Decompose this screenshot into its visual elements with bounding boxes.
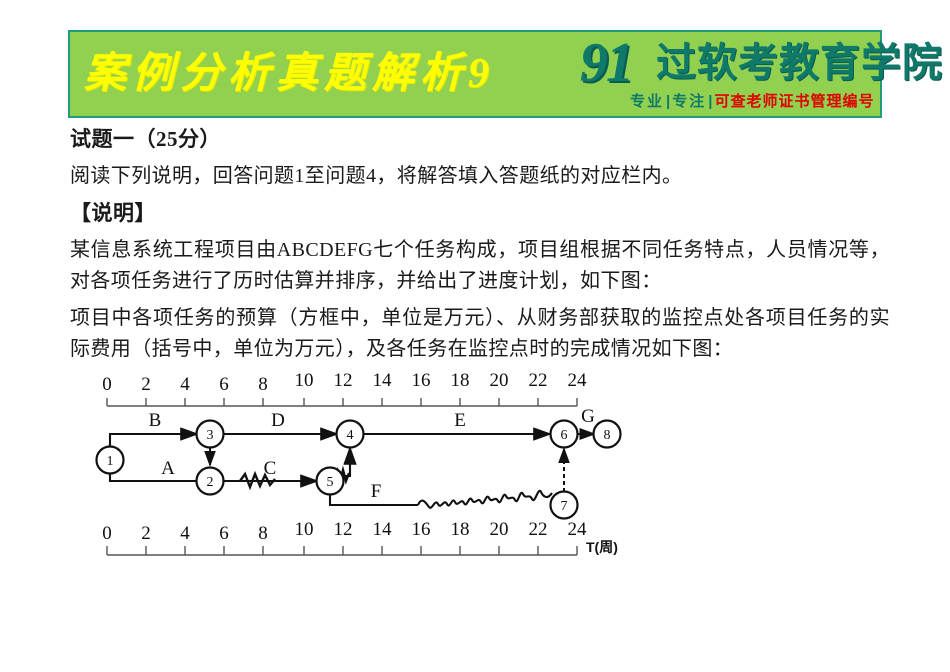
logo-subtitle-part1: 专业: [630, 93, 664, 110]
paragraph-1: 某信息系统工程项目由ABCDEFG七个任务构成，项目组根据不同任务特点，人员情况…: [70, 235, 890, 297]
top-tick-label: 12: [334, 372, 353, 391]
top-tick-label: 0: [102, 374, 112, 395]
node-label: 5: [327, 475, 334, 490]
node-2[interactable]: 2: [197, 468, 224, 495]
bottom-tick-label: 4: [180, 523, 190, 544]
page-title: 案例分析真题解析9: [84, 38, 495, 110]
document-body: 试题一（25分） 阅读下列说明，回答问题1至问题4，将解答填入答题纸的对应栏内。…: [70, 126, 890, 371]
node-4[interactable]: 4: [337, 421, 364, 448]
bottom-tick-label: 0: [102, 523, 112, 544]
node-1[interactable]: 1: [97, 447, 124, 474]
logo-subtitle-part3: 可查老师证书管理编号: [714, 93, 874, 110]
top-tick-label: 8: [258, 374, 268, 395]
top-tick-label: 4: [180, 374, 190, 395]
bottom-tick-label: 14: [373, 519, 393, 540]
logo-subtitle-part2: 专注: [672, 93, 706, 110]
top-tick-label: 14: [373, 372, 393, 391]
activity-label-G: G: [581, 406, 595, 427]
bottom-tick-label: 18: [451, 519, 470, 540]
activity-label-A: A: [161, 458, 175, 479]
top-tick-label: 16: [412, 372, 431, 391]
question-title: 试题一（25分）: [70, 126, 890, 152]
bottom-tick-label: 8: [258, 523, 268, 544]
activity-label-B: B: [149, 410, 162, 431]
node-6[interactable]: 6: [551, 421, 578, 448]
node-label: 6: [561, 428, 568, 443]
node-8[interactable]: 8: [594, 421, 621, 448]
bottom-tick-label: 20: [490, 519, 509, 540]
top-tick-label: 6: [219, 374, 229, 395]
activity-label-D: D: [271, 410, 285, 431]
node-label: 1: [107, 454, 114, 469]
instruction-line: 阅读下列说明，回答问题1至问题4，将解答填入答题纸的对应栏内。: [70, 161, 890, 191]
node-label: 4: [347, 428, 354, 443]
activity-label-F: F: [371, 481, 382, 502]
bottom-tick-label: 24: [568, 519, 588, 540]
bottom-tick-label: 12: [334, 519, 353, 540]
edge-F-slack-squiggle: [418, 491, 552, 508]
network-diagram: 0 2 4 6 8 10 12 14 16 18 20 22 24: [80, 372, 700, 572]
section-title: 【说明】: [70, 200, 890, 226]
paragraph-2: 项目中各项任务的预算（方框中，单位是万元）、从财务部获取的监控点处各项目任务的实…: [70, 303, 890, 365]
activity-label-E: E: [454, 410, 466, 431]
logo-name: 过软考教育学院: [656, 40, 943, 86]
node-5[interactable]: 5: [317, 468, 344, 495]
top-tick-label: 24: [568, 372, 588, 391]
logo-number: 91: [580, 34, 632, 92]
time-unit-label: T(周): [586, 539, 618, 555]
node-label: 2: [207, 475, 214, 490]
top-tick-label: 22: [529, 372, 548, 391]
bottom-tick-label: 6: [219, 523, 229, 544]
network-nodes: 1 3 2 4 5 6 8: [97, 421, 621, 519]
brand-logo: 91 过软考教育学院 专业|专注|可查老师证书管理编号: [574, 34, 874, 118]
bottom-tick-label: 2: [141, 523, 151, 544]
node-label: 3: [207, 428, 214, 443]
top-tick-label: 10: [295, 372, 314, 391]
node-label: 7: [561, 499, 568, 514]
logo-subtitle: 专业|专注|可查老师证书管理编号: [630, 92, 874, 112]
top-tick-label: 2: [141, 374, 151, 395]
node-3[interactable]: 3: [197, 421, 224, 448]
top-tick-label: 20: [490, 372, 509, 391]
top-tick-label: 18: [451, 372, 470, 391]
network-diagram-svg: 0 2 4 6 8 10 12 14 16 18 20 22 24: [80, 372, 700, 572]
top-axis-ticks: [107, 398, 577, 406]
node-label: 8: [604, 428, 611, 443]
bottom-tick-label: 10: [295, 519, 314, 540]
top-axis: 0 2 4 6 8 10 12 14 16 18 20 22 24: [102, 372, 587, 406]
bottom-axis-ticks: [107, 546, 577, 555]
header-banner: 案例分析真题解析9 91 过软考教育学院 专业|专注|可查老师证书管理编号: [68, 30, 882, 118]
logo-subtitle-divider1: |: [664, 93, 672, 110]
node-7[interactable]: 7: [551, 492, 578, 519]
bottom-tick-label: 22: [529, 519, 548, 540]
activity-label-C: C: [264, 458, 277, 479]
bottom-tick-label: 16: [412, 519, 431, 540]
bottom-axis: 0 2 4 6 8 10 12 14 16 18 20 22 24 T(周): [102, 519, 618, 555]
